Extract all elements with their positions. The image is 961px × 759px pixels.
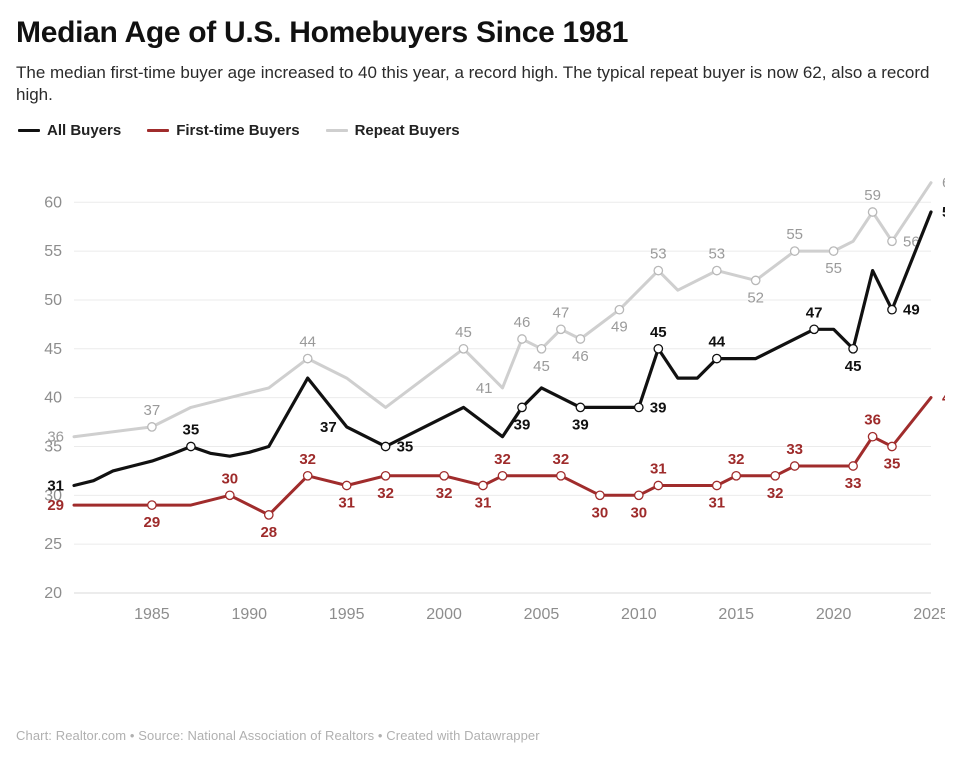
data-point-label: 53 [650, 246, 667, 263]
data-point-marker[interactable] [635, 492, 643, 500]
x-axis-tick-label: 2000 [426, 606, 462, 623]
data-point-marker[interactable] [868, 433, 876, 441]
data-point-marker[interactable] [654, 345, 662, 353]
data-point-label: 49 [611, 319, 628, 336]
data-point-marker[interactable] [810, 326, 818, 334]
data-point-label: 45 [650, 324, 667, 341]
chart-legend: All Buyers First-time Buyers Repeat Buye… [18, 122, 945, 139]
data-point-label: 32 [553, 451, 570, 468]
data-point-marker[interactable] [654, 267, 662, 275]
y-axis-tick-label: 50 [44, 292, 62, 309]
data-point-label: 32 [436, 485, 453, 502]
data-point-label: 29 [47, 498, 64, 515]
data-point-marker[interactable] [752, 277, 760, 285]
data-point-label: 40 [942, 390, 945, 407]
y-axis-tick-label: 60 [44, 195, 62, 212]
x-axis-tick-label: 2005 [524, 606, 560, 623]
page-subtitle: The median first-time buyer age increase… [16, 62, 945, 107]
data-point-marker[interactable] [557, 472, 565, 480]
data-point-marker[interactable] [304, 472, 312, 480]
data-point-label: 28 [260, 524, 277, 541]
page-title: Median Age of U.S. Homebuyers Since 1981 [16, 16, 945, 50]
data-point-label: 44 [708, 334, 725, 351]
data-point-label: 36 [864, 412, 881, 429]
y-axis-tick-label: 40 [44, 390, 62, 407]
data-point-marker[interactable] [479, 482, 487, 490]
data-point-label: 32 [299, 451, 316, 468]
y-axis-tick-label: 25 [44, 537, 62, 554]
line-swatch-icon [326, 129, 348, 132]
data-point-marker[interactable] [381, 443, 389, 451]
data-point-label: 30 [221, 471, 238, 488]
x-axis-tick-label: 2025 [913, 606, 945, 623]
data-point-label: 45 [533, 358, 550, 375]
data-point-label: 31 [650, 461, 667, 478]
series-line [74, 183, 931, 437]
data-point-label: 45 [845, 358, 862, 375]
x-axis-tick-label: 2015 [718, 606, 754, 623]
data-point-marker[interactable] [518, 404, 526, 412]
data-point-label: 62 [942, 175, 945, 192]
x-axis-tick-label: 2010 [621, 606, 657, 623]
data-point-label: 52 [747, 290, 764, 307]
data-point-marker[interactable] [537, 345, 545, 353]
data-point-label: 37 [144, 402, 161, 419]
data-point-label: 36 [47, 429, 64, 446]
data-point-marker[interactable] [791, 247, 799, 255]
data-point-label: 53 [708, 246, 725, 263]
data-point-marker[interactable] [791, 462, 799, 470]
data-point-label: 47 [553, 305, 570, 322]
data-point-label: 45 [455, 324, 472, 341]
y-axis-tick-label: 20 [44, 585, 62, 602]
data-point-label: 30 [592, 505, 609, 522]
data-point-label: 41 [476, 380, 493, 397]
x-axis-tick-label: 1985 [134, 606, 170, 623]
data-point-marker[interactable] [596, 492, 604, 500]
data-point-label: 32 [767, 485, 784, 502]
data-point-marker[interactable] [713, 355, 721, 363]
x-axis-tick-label: 2020 [816, 606, 852, 623]
data-point-marker[interactable] [868, 208, 876, 216]
data-point-marker[interactable] [148, 501, 156, 509]
data-point-label: 32 [377, 485, 394, 502]
data-point-marker[interactable] [771, 472, 779, 480]
data-point-label: 46 [572, 348, 589, 365]
data-point-marker[interactable] [615, 306, 623, 314]
data-point-label: 44 [299, 334, 316, 351]
data-point-label: 30 [630, 505, 647, 522]
data-point-marker[interactable] [440, 472, 448, 480]
data-point-label: 31 [338, 495, 355, 512]
data-point-label: 59 [942, 204, 945, 221]
data-point-marker[interactable] [381, 472, 389, 480]
data-point-marker[interactable] [187, 443, 195, 451]
chart-page: Median Age of U.S. Homebuyers Since 1981… [0, 16, 961, 759]
data-point-label: 29 [144, 515, 161, 532]
data-point-marker[interactable] [265, 511, 273, 519]
data-point-marker[interactable] [654, 482, 662, 490]
data-point-label: 55 [786, 227, 803, 244]
data-point-label: 59 [864, 187, 881, 204]
data-point-label: 31 [708, 495, 725, 512]
data-point-label: 39 [650, 400, 667, 417]
data-point-label: 33 [786, 441, 803, 458]
data-point-marker[interactable] [576, 335, 584, 343]
data-point-marker[interactable] [829, 247, 837, 255]
data-point-marker[interactable] [148, 423, 156, 431]
data-point-marker[interactable] [343, 482, 351, 490]
data-point-label: 55 [825, 261, 842, 278]
data-point-label: 46 [514, 314, 531, 331]
x-axis-tick-label: 1990 [231, 606, 267, 623]
data-point-label: 49 [903, 302, 920, 319]
data-point-label: 47 [806, 305, 823, 322]
data-point-label: 37 [320, 419, 337, 436]
data-point-marker[interactable] [518, 335, 526, 343]
x-axis-tick-label: 1995 [329, 606, 365, 623]
data-point-marker[interactable] [459, 345, 467, 353]
legend-item-first-time-buyers[interactable]: First-time Buyers [147, 122, 299, 139]
data-point-label: 35 [397, 439, 414, 456]
chart-plot-area: 2025303540455055601985199019952000200520… [16, 145, 945, 645]
data-point-marker[interactable] [849, 345, 857, 353]
data-point-label: 35 [884, 456, 901, 473]
data-point-marker[interactable] [732, 472, 740, 480]
data-point-marker[interactable] [498, 472, 506, 480]
data-point-marker[interactable] [849, 462, 857, 470]
line-chart-svg: 2025303540455055601985199019952000200520… [16, 145, 945, 645]
data-point-marker[interactable] [888, 238, 896, 246]
data-point-marker[interactable] [713, 267, 721, 275]
data-point-marker[interactable] [304, 355, 312, 363]
data-point-marker[interactable] [557, 326, 565, 334]
data-point-marker[interactable] [713, 482, 721, 490]
data-point-label: 33 [845, 475, 862, 492]
data-point-label: 32 [728, 451, 745, 468]
data-point-label: 31 [475, 495, 492, 512]
data-point-marker[interactable] [226, 492, 234, 500]
data-point-marker[interactable] [888, 306, 896, 314]
legend-label-all-buyers: All Buyers [47, 122, 121, 139]
line-swatch-icon [18, 129, 40, 132]
data-point-label: 31 [47, 478, 64, 495]
legend-label-first-time-buyers: First-time Buyers [176, 122, 299, 139]
y-axis-tick-label: 55 [44, 244, 62, 261]
data-point-marker[interactable] [888, 443, 896, 451]
data-point-label: 32 [494, 451, 511, 468]
chart-credit: Chart: Realtor.com • Source: National As… [16, 728, 540, 743]
data-point-label: 35 [183, 422, 200, 439]
legend-label-repeat-buyers: Repeat Buyers [355, 122, 460, 139]
legend-item-all-buyers[interactable]: All Buyers [18, 122, 121, 139]
data-point-marker[interactable] [635, 404, 643, 412]
line-swatch-icon [147, 129, 169, 132]
data-point-label: 39 [514, 417, 531, 434]
data-point-label: 39 [572, 417, 589, 434]
y-axis-tick-label: 45 [44, 341, 62, 358]
data-point-marker[interactable] [576, 404, 584, 412]
legend-item-repeat-buyers[interactable]: Repeat Buyers [326, 122, 460, 139]
